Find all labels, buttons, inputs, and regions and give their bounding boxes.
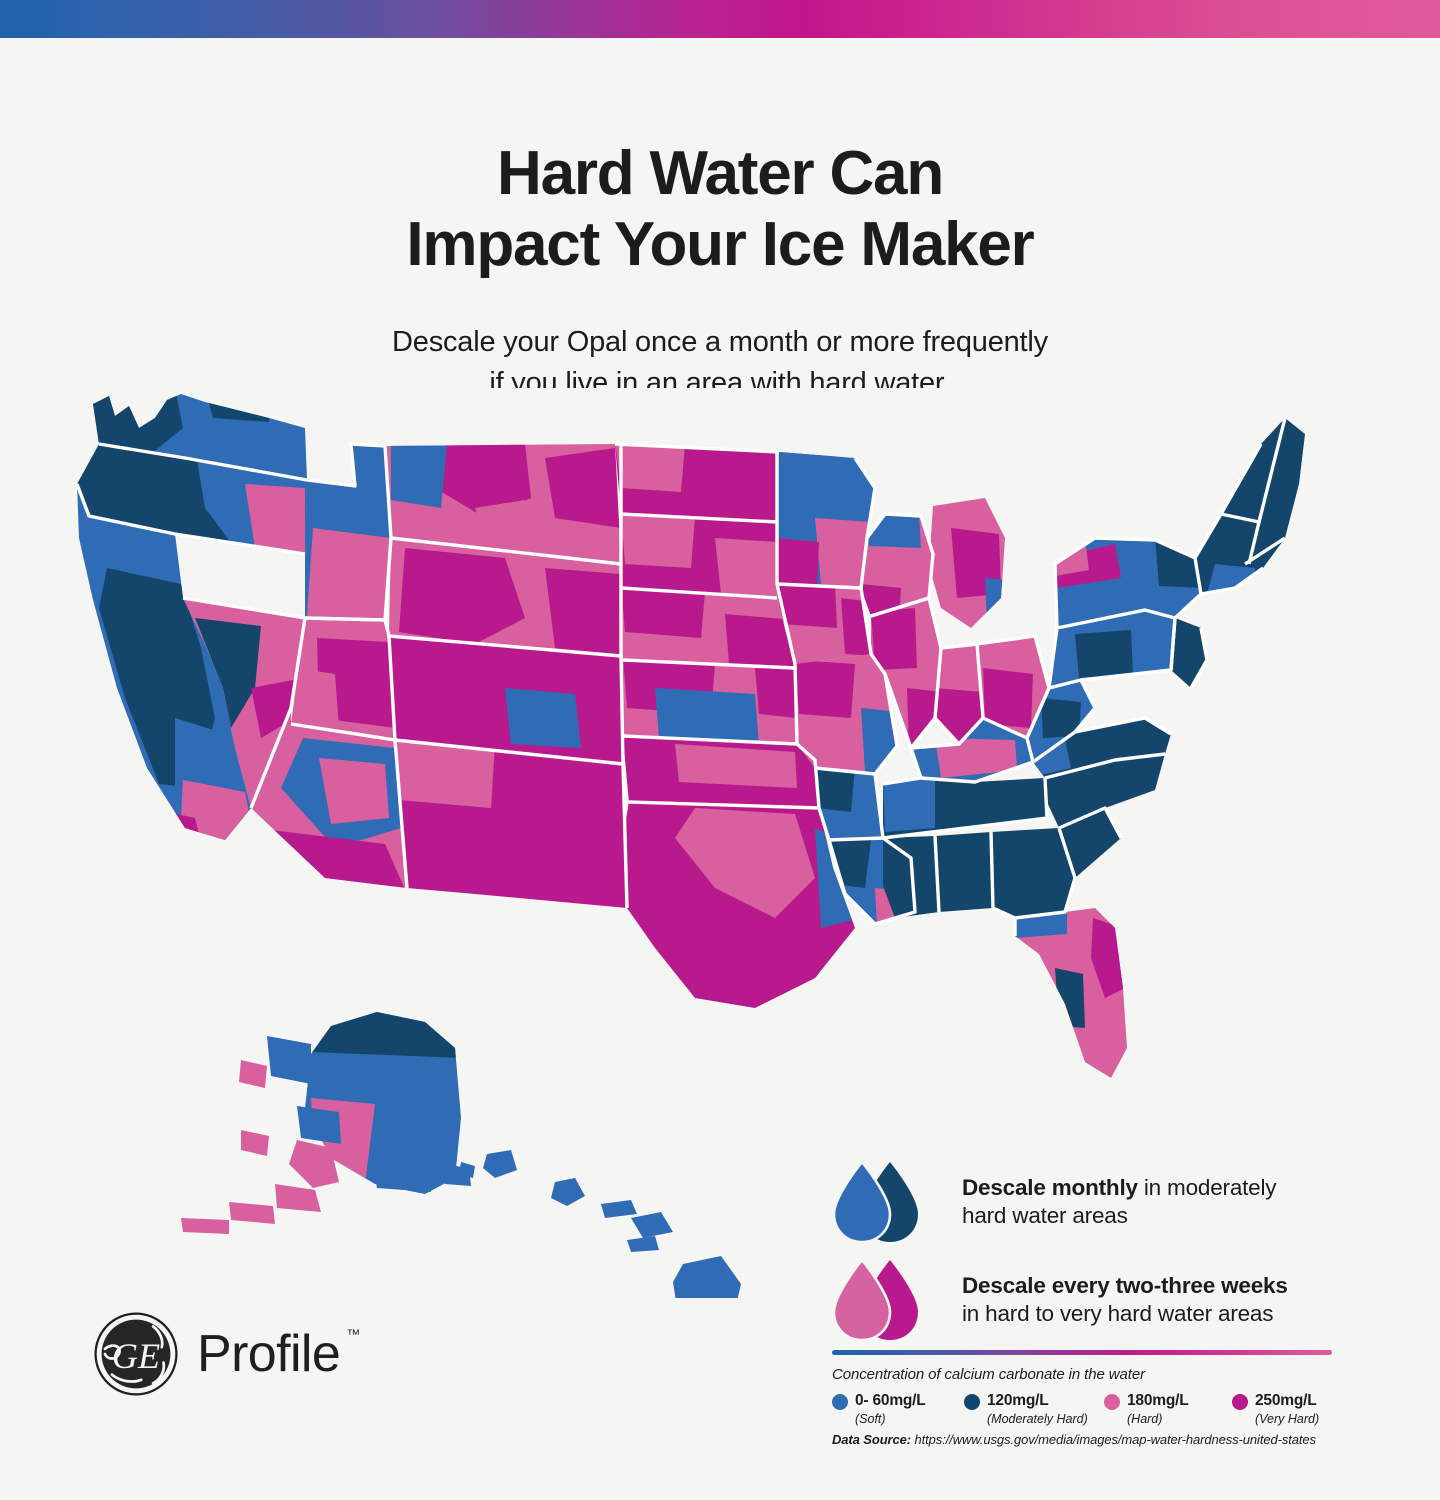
- scale-item-hard: 180mg/L (Hard): [1104, 1392, 1189, 1428]
- scale-name-moderately-hard: (Moderately Hard): [987, 1412, 1088, 1426]
- water-drop-pair-blue-icon: [832, 1160, 936, 1248]
- data-source-label: Data Source:: [832, 1432, 911, 1447]
- descale-hard-line2: in hard to very hard water areas: [962, 1300, 1288, 1328]
- descale-legend-hard-text: Descale every two-three weeks in hard to…: [962, 1258, 1288, 1329]
- descale-moderate-bold: Descale monthly: [962, 1175, 1138, 1200]
- region-south-dakota: [621, 512, 777, 600]
- scale-item-soft: 0- 60mg/L (Soft): [832, 1392, 926, 1428]
- scale-dot-moderately-hard: [964, 1394, 980, 1410]
- scale-name-hard: (Hard): [1127, 1412, 1162, 1426]
- concentration-gradient-bar: [832, 1350, 1332, 1355]
- title-line-2: Impact Your Ice Maker: [0, 209, 1440, 281]
- concentration-items: 0- 60mg/L (Soft) 120mg/L (Moderately Har…: [832, 1392, 1332, 1432]
- concentration-scale-legend: Concentration of calcium carbonate in th…: [832, 1350, 1332, 1432]
- descale-legend-hard: Descale every two-three weeks in hard to…: [832, 1258, 1342, 1346]
- trademark-symbol: ™: [346, 1326, 360, 1342]
- scale-name-soft: (Soft): [855, 1412, 886, 1426]
- descale-moderate-line2: hard water areas: [962, 1202, 1276, 1230]
- title-line-1: Hard Water Can: [497, 139, 943, 208]
- scale-value-moderately-hard: 120mg/L: [987, 1392, 1049, 1409]
- scale-item-very-hard: 250mg/L (Very Hard): [1232, 1392, 1319, 1428]
- data-source-note: Data Source: https://www.usgs.gov/media/…: [832, 1432, 1316, 1447]
- ge-monogram-icon: GE: [93, 1311, 179, 1397]
- scale-value-hard: 180mg/L: [1127, 1392, 1189, 1409]
- descale-legend-moderate: Descale monthly in moderately hard water…: [832, 1160, 1342, 1248]
- page-title: Hard Water Can Impact Your Ice Maker: [0, 138, 1440, 282]
- descale-legend-moderate-text: Descale monthly in moderately hard water…: [962, 1160, 1276, 1231]
- water-drop-pair-pink-icon: [832, 1258, 936, 1346]
- scale-value-very-hard: 250mg/L: [1255, 1392, 1317, 1409]
- descale-hard-bold: Descale every two-three weeks: [962, 1273, 1288, 1298]
- region-kansas: [623, 656, 797, 744]
- scale-name-very-hard: (Very Hard): [1255, 1412, 1319, 1426]
- scale-value-soft: 0- 60mg/L: [855, 1392, 926, 1409]
- descale-moderate-rest: in moderately: [1138, 1175, 1277, 1200]
- svg-text:GE: GE: [112, 1336, 160, 1376]
- data-source-url: https://www.usgs.gov/media/images/map-wa…: [911, 1432, 1316, 1447]
- top-gradient-bar: [0, 0, 1440, 38]
- subtitle-line-1: Descale your Opal once a month or more f…: [392, 326, 1048, 358]
- ge-profile-logo: GE Profile™: [93, 1308, 413, 1400]
- region-alabama: [935, 832, 993, 912]
- scale-dot-soft: [832, 1394, 848, 1410]
- infographic-root: Hard Water Can Impact Your Ice Maker Des…: [0, 0, 1440, 1500]
- scale-dot-very-hard: [1232, 1394, 1248, 1410]
- scale-item-moderately-hard: 120mg/L (Moderately Hard): [964, 1392, 1088, 1428]
- brand-name: Profile™: [197, 1324, 340, 1384]
- concentration-caption: Concentration of calcium carbonate in th…: [832, 1366, 1332, 1383]
- region-utah: [291, 618, 395, 740]
- scale-dot-hard: [1104, 1394, 1120, 1410]
